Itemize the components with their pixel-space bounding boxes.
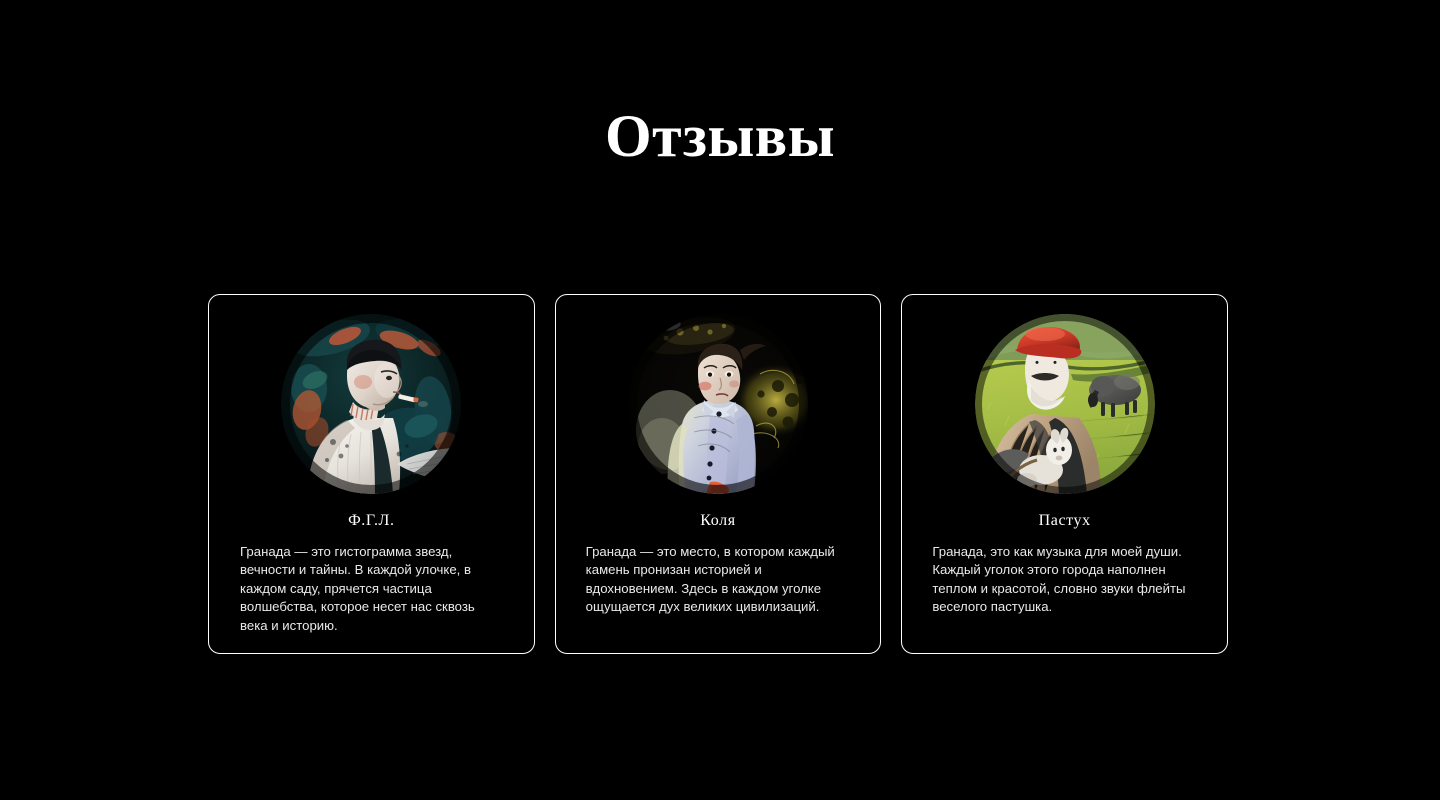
portrait-poet-smoking-avatar-icon	[281, 314, 461, 494]
testimonial-quote: Гранада — это гистограмма звезд, вечност…	[209, 543, 534, 635]
testimonial-author-name: Ф.Г.Л.	[348, 511, 395, 531]
page-title: Отзывы	[0, 104, 1440, 168]
testimonial-card[interactable]: Ф.Г.Л. Гранада — это гистограмма звезд, …	[208, 294, 535, 654]
testimonials-row: Ф.Г.Л. Гранада — это гистограмма звезд, …	[208, 294, 1228, 654]
testimonial-quote: Гранада, это как музыка для моей души. К…	[902, 543, 1227, 617]
testimonial-author-name: Коля	[700, 511, 735, 531]
testimonial-card[interactable]: Пастух Гранада, это как музыка для моей …	[901, 294, 1228, 654]
testimonial-card[interactable]: Коля Гранада — это место, в котором кажд…	[555, 294, 882, 654]
testimonials-page: Отзывы	[0, 0, 1440, 800]
testimonial-author-name: Пастух	[1039, 511, 1091, 531]
testimonial-quote: Гранада — это место, в котором каждый ка…	[556, 543, 881, 617]
portrait-shepherd-red-cap-avatar-icon	[975, 314, 1155, 494]
portrait-figure-blue-jacket-avatar-icon	[628, 314, 808, 494]
